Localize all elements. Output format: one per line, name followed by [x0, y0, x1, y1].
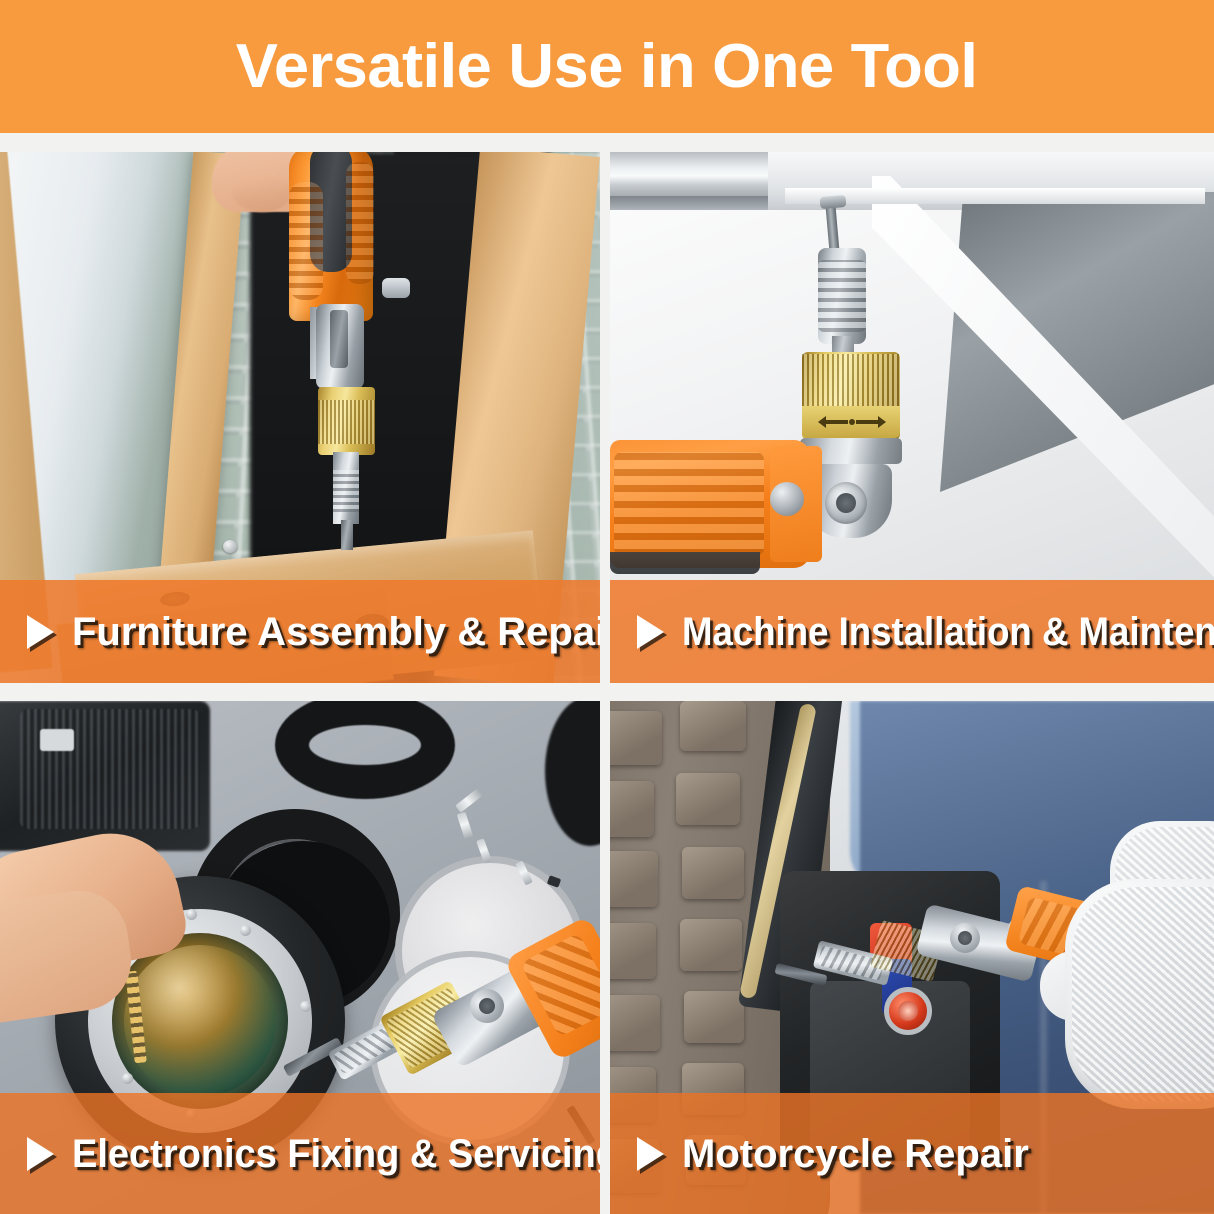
center-dot-icon [849, 419, 855, 425]
play-triangle-icon [27, 1137, 54, 1171]
camera-body-texture [20, 709, 200, 829]
hand-fingers [232, 172, 292, 212]
panel-electronics-fixing[interactable]: Electronics Fixing & Servicing [0, 701, 600, 1214]
play-triangle-icon [637, 615, 664, 649]
caption-bar-machine: Machine Installation & Maintenance [610, 580, 1214, 683]
release-button [770, 482, 804, 516]
screw-head [820, 195, 847, 209]
tool-pivot-notch [330, 310, 348, 368]
torx-pivot-screw-recess [958, 931, 972, 945]
wood-screw-head [223, 540, 237, 553]
caption-text-machine: Machine Installation & Maintenance [682, 612, 1214, 652]
tire-knob [680, 919, 742, 971]
mount-screw [300, 1001, 311, 1012]
tire-knob [684, 991, 744, 1043]
tool-handle-dark-edge [610, 552, 760, 574]
mount-screw [240, 925, 251, 936]
mount-screw [186, 909, 197, 920]
panel-furniture-assembly[interactable]: Furniture Assembly & Repair [0, 152, 600, 683]
driver-bit-tip [341, 520, 353, 550]
panel-motorcycle-repair[interactable]: Motorcycle Repair [610, 701, 1214, 1214]
tire-knob [676, 773, 740, 825]
caption-text-electronics: Electronics Fixing & Servicing [72, 1134, 600, 1174]
bit-holder-rings [818, 260, 866, 332]
panel-machine-installation[interactable]: Machine Installation & Maintenance [610, 152, 1214, 683]
panel-grid: Furniture Assembly & Repair [0, 152, 1214, 1214]
gold-collar-knurling [802, 354, 900, 406]
infographic-page: Versatile Use in One Tool [0, 0, 1214, 1214]
tire-knob [610, 923, 656, 979]
bit-holder-rings [333, 470, 359, 512]
header-banner: Versatile Use in One Tool [0, 0, 1214, 133]
tire-knob [610, 781, 654, 837]
direction-arrows-icon [822, 416, 882, 428]
gold-collar-knurling [318, 400, 375, 444]
caption-text-furniture: Furniture Assembly & Repair [72, 612, 600, 652]
tire-knob [610, 995, 660, 1051]
tool-grip-ribs [614, 452, 764, 556]
caption-text-motorcycle: Motorcycle Repair [682, 1134, 1029, 1174]
torx-pivot-screw-recess [836, 493, 856, 513]
caption-bar-furniture: Furniture Assembly & Repair [0, 580, 600, 683]
lens-glass-element [124, 945, 276, 1097]
work-glove-texture [1072, 887, 1214, 1101]
play-triangle-icon [637, 1137, 664, 1171]
tire-knob [610, 711, 662, 765]
tool-grip-ribs-right [346, 162, 374, 284]
tool-side-pin [382, 278, 410, 298]
caption-bar-motorcycle: Motorcycle Repair [610, 1093, 1214, 1214]
panel-lip [785, 188, 1205, 204]
page-title: Versatile Use in One Tool [236, 36, 978, 98]
camera-contact-plate [40, 729, 74, 751]
arrow-right-icon [856, 420, 882, 424]
arrow-left-icon [822, 420, 848, 424]
tire-knob [610, 851, 658, 907]
tool-grip-ribs-left [289, 182, 323, 300]
play-triangle-icon [27, 615, 54, 649]
caption-bar-electronics: Electronics Fixing & Servicing [0, 1093, 600, 1214]
mount-screw [122, 1073, 133, 1084]
tire-knob [682, 847, 744, 899]
red-bleeder-cap-center [898, 1001, 918, 1021]
torx-pivot-screw-recess [479, 998, 495, 1014]
tire-knob [680, 701, 746, 751]
